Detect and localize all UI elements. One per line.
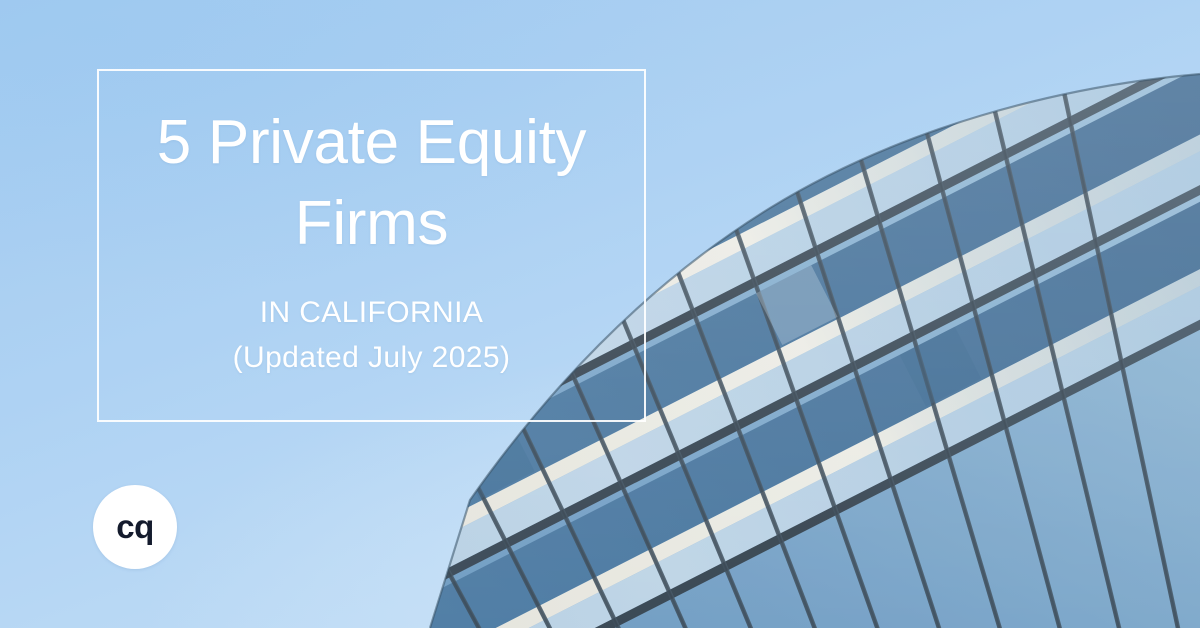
cq-monogram-logo: CQ (93, 485, 177, 569)
text-block: 5 Private Equity Firms IN CALIFORNIA (Up… (97, 69, 646, 422)
subtitle-group: IN CALIFORNIA (Updated July 2025) (233, 290, 511, 380)
subtitle-location: IN CALIFORNIA (233, 290, 511, 335)
headline-line-1: 5 Private Equity (157, 108, 586, 177)
subtitle-updated-date: (Updated July 2025) (233, 335, 511, 380)
page-title: 5 Private Equity Firms (157, 103, 586, 264)
headline-line-2: Firms (295, 189, 448, 258)
hero-card: 5 Private Equity Firms IN CALIFORNIA (Up… (0, 0, 1200, 628)
logo-text: CQ (116, 510, 154, 543)
